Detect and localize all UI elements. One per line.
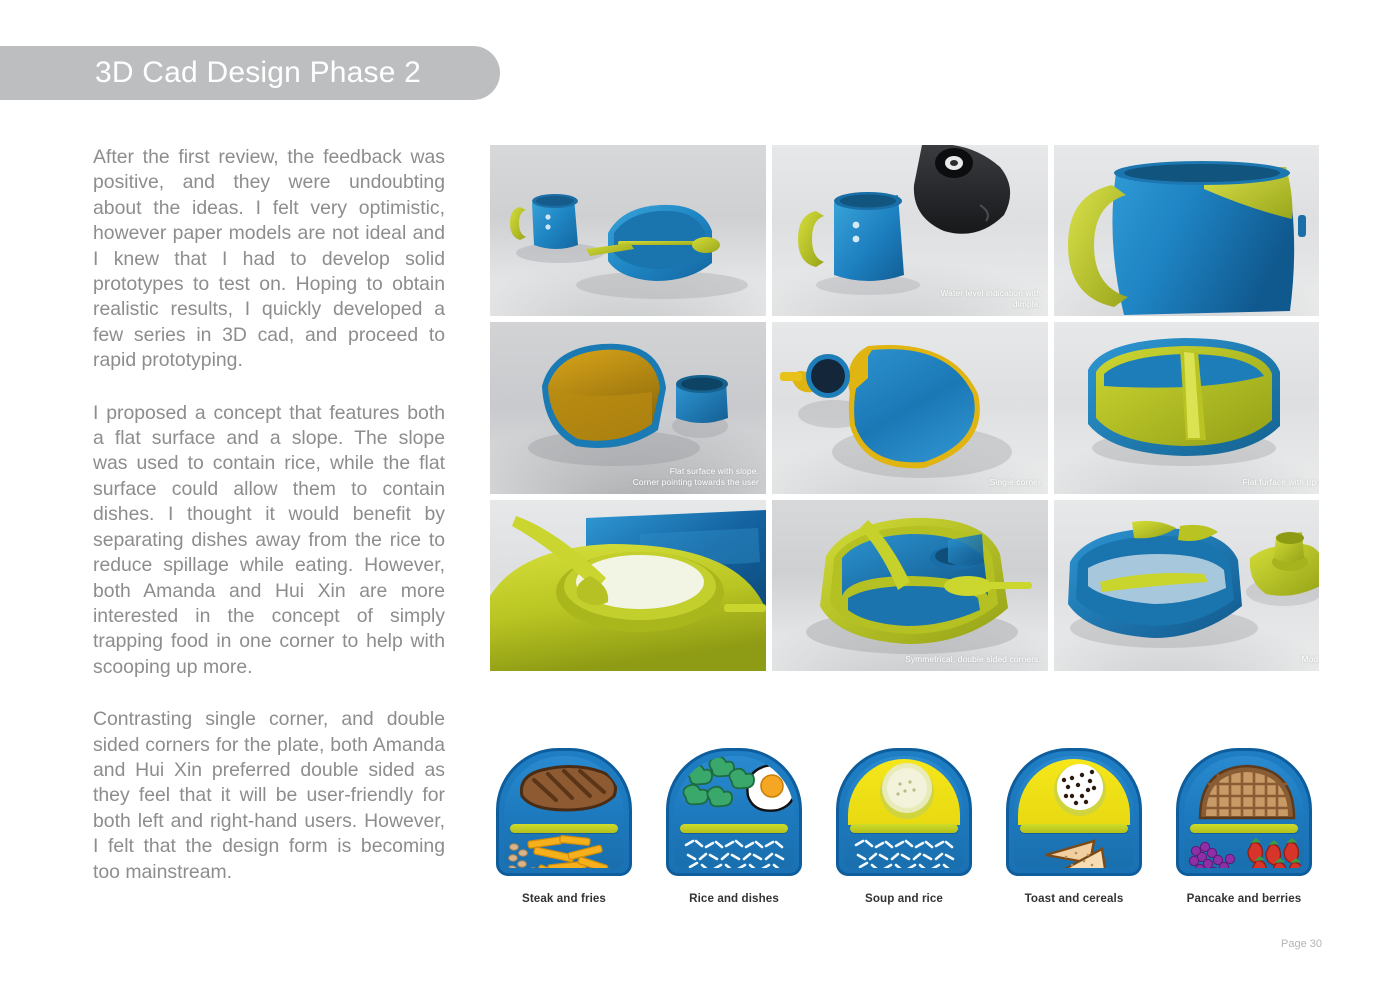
- fries-and-beans-illustration: [504, 833, 624, 868]
- render-bowl-with-upstand: [1054, 322, 1319, 494]
- page-number: Page 30: [1281, 938, 1322, 950]
- render-caption: Single corner: [990, 477, 1041, 488]
- render-cup-handle-closeup: [1054, 145, 1319, 316]
- render-tile-bowl-with-slope-and-cup: Flat surface with slope. Corner pointing…: [490, 322, 766, 494]
- food-icon-label: Toast and cereals: [1025, 892, 1124, 905]
- food-icon-strip: Steak and fries: [490, 748, 1318, 918]
- render-tile-double-sided-corner-tray: Symmetrical, double sided corners.: [772, 500, 1048, 671]
- food-icon-cell: Toast and cereals: [1000, 748, 1148, 918]
- rice-illustration: [844, 833, 964, 868]
- page-title: 3D Cad Design Phase 2: [95, 56, 421, 90]
- cereal-bowl-illustration: [1014, 756, 1134, 824]
- render-tile-cup-with-kettle-pouring: Water level indication with dimple.: [772, 145, 1048, 316]
- plate-divider: [850, 824, 958, 833]
- render-cup-and-plate-set: [490, 145, 766, 316]
- plate-divider: [680, 824, 788, 833]
- plate-divider: [1020, 824, 1128, 833]
- render-caption: Flat furface with up s: [1242, 477, 1319, 488]
- rice-illustration: [674, 833, 794, 868]
- food-icon-label: Rice and dishes: [689, 892, 779, 905]
- paragraph-3: Contrasting single corner, and double si…: [93, 707, 445, 885]
- plate-divider: [1190, 824, 1298, 833]
- page-title-banner: 3D Cad Design Phase 2: [0, 46, 500, 100]
- render-tile-modular-tray-set: Modu: [1054, 500, 1319, 671]
- paragraph-1: After the first review, the feedback was…: [93, 145, 445, 374]
- paragraph-2: I proposed a concept that features both …: [93, 401, 445, 680]
- steak-illustration: [504, 756, 624, 824]
- egg-and-broccoli-illustration: [674, 756, 794, 824]
- render-tile-cup-and-plate-set: [490, 145, 766, 316]
- render-tile-bowl-with-upstand: Flat furface with up s: [1054, 322, 1319, 494]
- berries-illustration: [1184, 833, 1304, 868]
- render-grid: Water level indication with dimple.: [490, 145, 1315, 673]
- render-tile-green-bowl-spoon-closeup: [490, 500, 766, 671]
- food-icon-cell: Soup and rice: [830, 748, 978, 918]
- render-caption: Modu: [1301, 654, 1319, 665]
- render-caption: Water level indication with dimple.: [940, 288, 1041, 310]
- waffle-illustration: [1184, 756, 1304, 824]
- soup-rice-icon: [836, 748, 972, 876]
- rice-dishes-icon: [666, 748, 802, 876]
- food-icon-label: Soup and rice: [865, 892, 943, 905]
- render-double-sided-tray: [772, 500, 1048, 671]
- food-icon-label: Pancake and berries: [1187, 892, 1302, 905]
- portfolio-page: 3D Cad Design Phase 2 After the first re…: [0, 0, 1400, 990]
- render-green-bowl-closeup: [490, 500, 766, 671]
- plate-divider: [510, 824, 618, 833]
- pancake-berries-icon: [1176, 748, 1312, 876]
- body-text-column: After the first review, the feedback was…: [93, 145, 445, 885]
- food-icon-cell: Pancake and berries: [1170, 748, 1318, 918]
- food-icon-label: Steak and fries: [522, 892, 606, 905]
- food-icon-cell: Steak and fries: [490, 748, 638, 918]
- render-tile-single-corner-plate: Single corner: [772, 322, 1048, 494]
- toast-cereals-icon: [1006, 748, 1142, 876]
- soup-bowl-illustration: [844, 756, 964, 824]
- render-tile-cup-handle-closeup: [1054, 145, 1319, 316]
- render-modular-tray-set: [1054, 500, 1319, 671]
- render-caption: Symmetrical, double sided corners.: [905, 654, 1041, 665]
- food-icon-cell: Rice and dishes: [660, 748, 808, 918]
- render-caption: Flat surface with slope. Corner pointing…: [633, 466, 759, 488]
- steak-fries-icon: [496, 748, 632, 876]
- render-single-corner-plate: [772, 322, 1048, 494]
- toast-triangles-illustration: [1014, 833, 1134, 868]
